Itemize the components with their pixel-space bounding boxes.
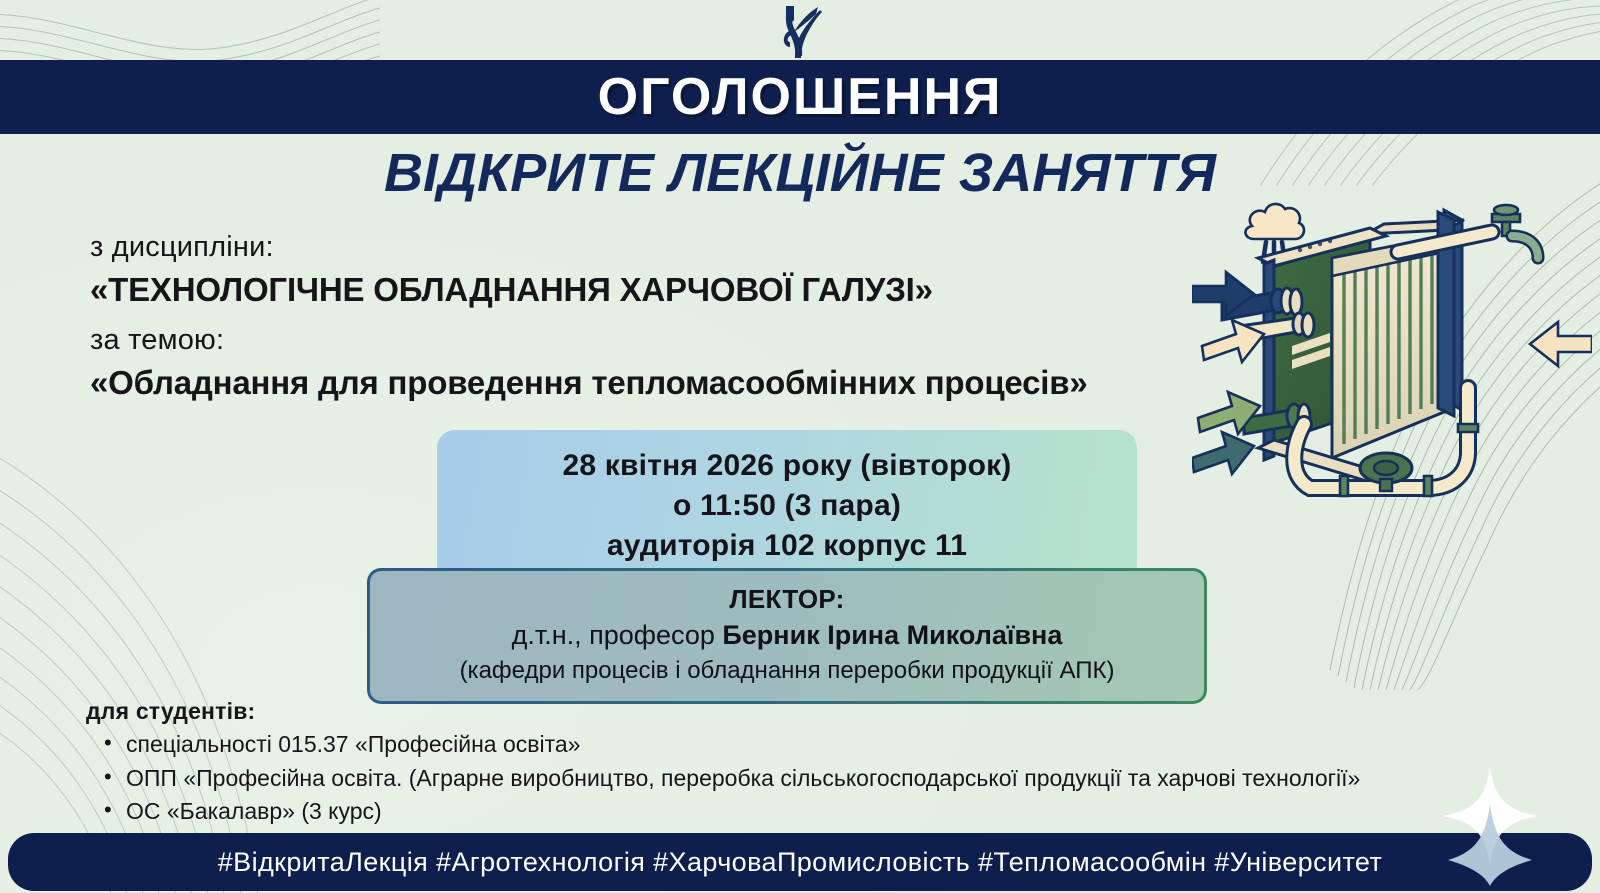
lecturer-department: (кафедри процесів і обладнання переробки…	[388, 654, 1186, 688]
poster-canvas: ОГОЛОШЕННЯ ВІДКРИТЕ ЛЕКЦІЙНЕ ЗАНЯТТЯ	[0, 0, 1600, 893]
schedule-place: аудиторія 102 корпус 11	[457, 526, 1117, 566]
announcement-banner-title: ОГОЛОШЕННЯ	[0, 62, 1600, 132]
students-block: для студентів: спеціальності 015.37 «Про…	[86, 698, 1360, 829]
wave-decor-right	[1320, 170, 1600, 690]
plate-heat-exchanger-illustration	[1192, 196, 1592, 561]
tap-valve-icon	[1492, 205, 1538, 258]
schedule-date: 28 квітня 2026 року (вівторок)	[457, 446, 1117, 486]
students-label: для студентів:	[86, 698, 1360, 725]
lecturer-card: ЛЕКТОР: д.т.н., професор Берник Ірина Ми…	[367, 568, 1207, 704]
university-logo	[772, 2, 828, 65]
cream-return-arrow-icon	[1530, 322, 1592, 366]
gate-valve-icon	[1360, 453, 1412, 491]
footer-hashtags: #ВідкритаЛекція #Агротехнологія #Харчова…	[218, 847, 1382, 878]
discipline-name: «ТЕХНОЛОГІЧНЕ ОБЛАДНАННЯ ХАРЧОВОЇ ГАЛУЗІ…	[90, 267, 1180, 313]
theme-name: «Обладнання для проведення тепломасообмі…	[90, 360, 1180, 406]
list-item: ОС «Бакалавр» (3 курс)	[86, 795, 1360, 829]
list-item: спеціальності 015.37 «Професійна освіта»	[86, 728, 1360, 762]
schedule-card: 28 квітня 2026 року (вівторок) о 11:50 (…	[437, 430, 1137, 584]
steam-puff-icon	[1245, 204, 1304, 264]
stylized-k-monogram-icon	[772, 2, 828, 60]
lecturer-label: ЛЕКТОР:	[388, 582, 1186, 617]
discipline-block: з дисципліни: «ТЕХНОЛОГІЧНЕ ОБЛАДНАННЯ Х…	[90, 228, 1180, 407]
students-list: спеціальності 015.37 «Професійна освіта»…	[86, 728, 1360, 829]
navy-outlet-arrow-icon	[1192, 432, 1254, 474]
footer-hashtag-bar: #ВідкритаЛекція #Агротехнологія #Харчова…	[8, 833, 1592, 891]
lecturer-name-row: д.т.н., професор Берник Ірина Миколаївна	[388, 617, 1186, 653]
list-item: ОПП «Професійна освіта. (Аграрне виробни…	[86, 762, 1360, 796]
lecturer-degree: д.т.н., професор	[512, 620, 723, 650]
theme-label: за темою:	[90, 321, 1180, 360]
lecturer-fullname: Берник Ірина Миколаївна	[722, 620, 1062, 650]
schedule-time: о 11:50 (3 пара)	[457, 486, 1117, 526]
cream-inlet-arrow-icon	[1202, 320, 1264, 362]
navy-inlet-arrow-icon	[1192, 272, 1254, 316]
discipline-label: з дисципліни:	[90, 228, 1180, 267]
green-outlet-arrow-icon	[1198, 392, 1260, 434]
page-title: ВІДКРИТЕ ЛЕКЦІЙНЕ ЗАНЯТТЯ	[0, 142, 1600, 204]
